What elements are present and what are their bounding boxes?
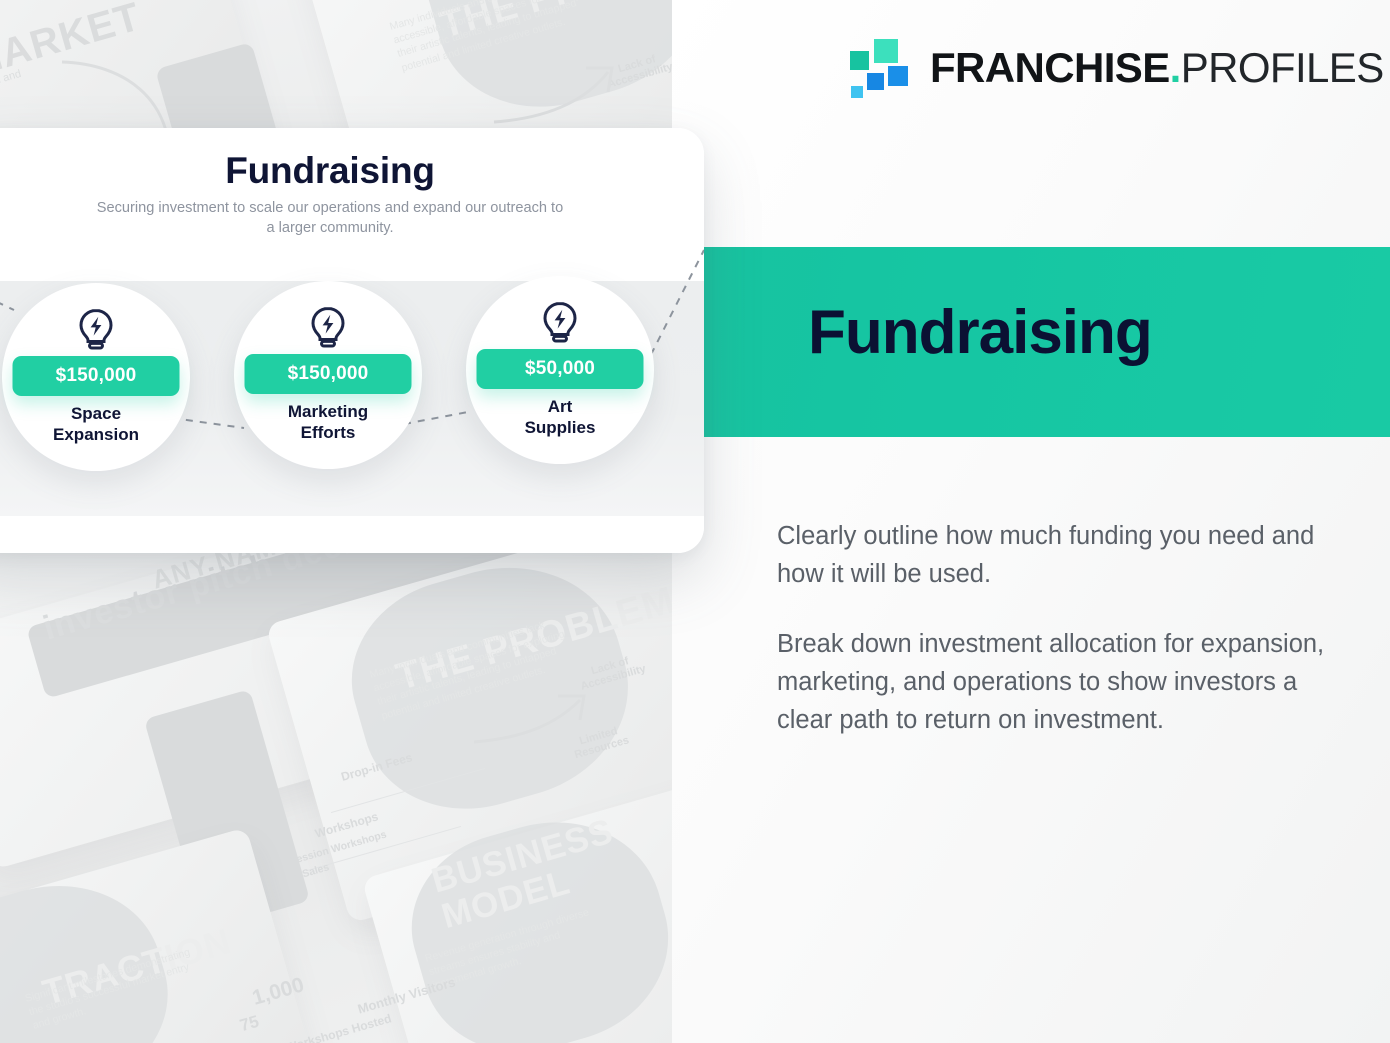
fund-node-label: Marketing Efforts [241, 402, 416, 443]
fund-node-art-supplies[interactable]: $50,000 Art Supplies [466, 276, 654, 464]
logo-square-1 [850, 51, 869, 70]
slide-canvas: MARKET spaces in urban and is substantia… [0, 0, 1390, 1043]
fund-node-label: Space Expansion [9, 404, 184, 445]
fund-node-marketing-efforts[interactable]: $150,000 Marketing Efforts [234, 281, 422, 469]
card-title: Fundraising [0, 150, 704, 192]
fund-node-label: Art Supplies [473, 397, 648, 438]
section-title: Fundraising [808, 302, 1152, 364]
logo-dot: . [1170, 44, 1181, 91]
section-banner: Fundraising [703, 247, 1390, 437]
lightbulb-bolt-icon [308, 305, 348, 349]
card-footer-area [0, 516, 704, 553]
fund-node-amount: $50,000 [477, 349, 644, 389]
body-paragraph-2: Break down investment allocation for exp… [777, 626, 1357, 739]
brand-logo[interactable]: FRANCHISE.PROFILES [850, 39, 1384, 97]
logo-square-2 [874, 39, 898, 63]
logo-word-franchise: FRANCHISE [930, 44, 1170, 91]
logo-squares-icon [850, 39, 908, 97]
card-subtitle: Securing investment to scale our operati… [95, 198, 565, 238]
logo-square-3 [888, 66, 908, 86]
background-arrow-icon-3 [470, 690, 590, 760]
fund-node-amount: $150,000 [13, 356, 180, 396]
logo-wordmark: FRANCHISE.PROFILES [930, 47, 1384, 89]
body-paragraph-1: Clearly outline how much funding you nee… [777, 518, 1357, 593]
fundraising-slide-card: Fundraising Securing investment to scale… [0, 128, 704, 553]
fund-node-amount: $150,000 [245, 354, 412, 394]
logo-word-profiles: PROFILES [1181, 44, 1384, 91]
logo-square-5 [851, 86, 863, 98]
card-header-area: Fundraising Securing investment to scale… [0, 128, 704, 281]
fund-node-space-expansion[interactable]: $150,000 Space Expansion [2, 283, 190, 471]
lightbulb-bolt-icon [76, 307, 116, 351]
lightbulb-bolt-icon [540, 300, 580, 344]
logo-square-4 [867, 73, 884, 90]
right-content-pane: FRANCHISE.PROFILES Fundraising Clearly o… [672, 0, 1390, 1043]
section-body-copy: Clearly outline how much funding you nee… [777, 518, 1357, 740]
